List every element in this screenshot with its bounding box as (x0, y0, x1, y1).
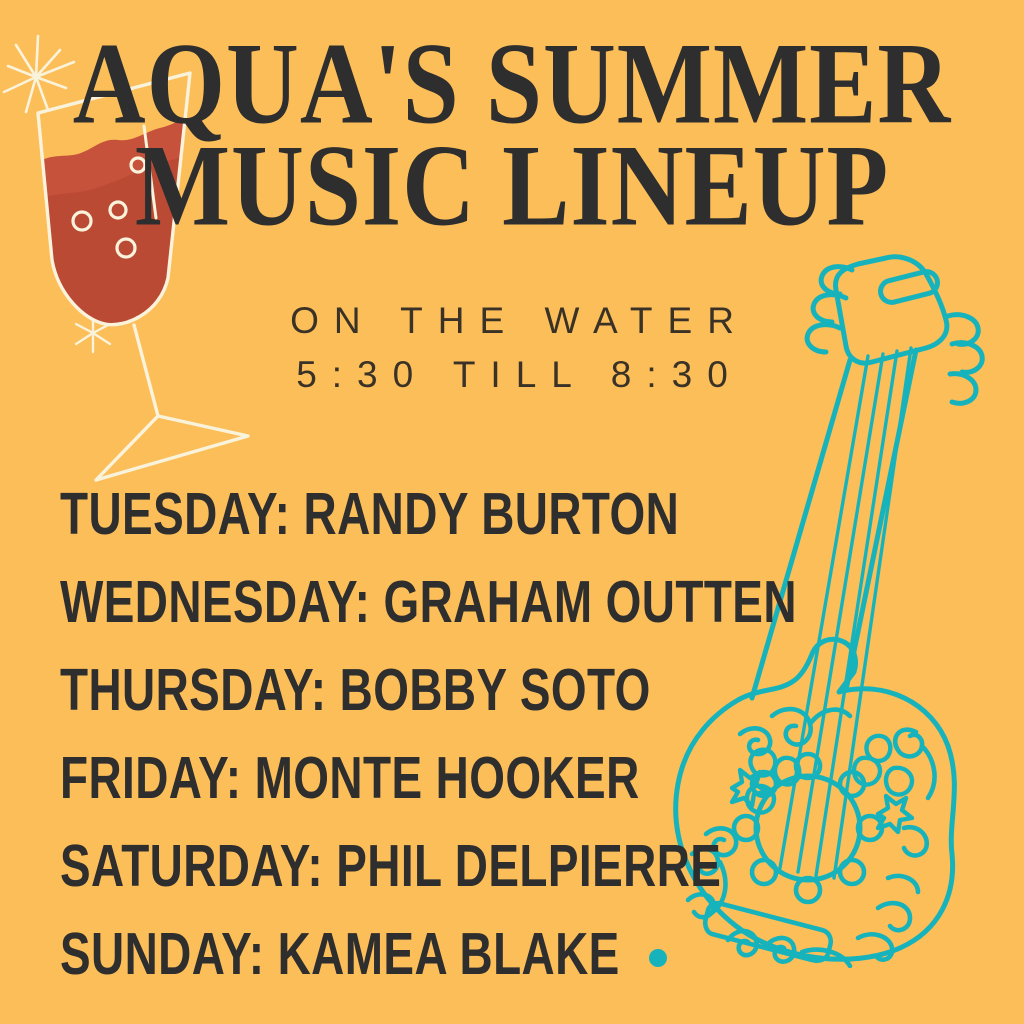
subtitle-location: ON THE WATER (0, 302, 1024, 339)
lineup-entry-thursday: THURSDAY: BOBBY SOTO (60, 660, 651, 719)
poster-text-layer: AQUA'S SUMMER MUSIC LINEUP ON THE WATER … (0, 0, 1024, 1024)
lineup-list: TUESDAY: RANDY BURTON WEDNESDAY: GRAHAM … (60, 470, 720, 998)
lineup-entry-sunday: SUNDAY: KAMEA BLAKE (60, 924, 620, 983)
list-item: THURSDAY: BOBBY SOTO (60, 646, 720, 734)
lineup-entry-friday: FRIDAY: MONTE HOOKER (60, 748, 640, 807)
lineup-entry-tuesday: TUESDAY: RANDY BURTON (60, 484, 679, 543)
list-item: FRIDAY: MONTE HOOKER (60, 734, 720, 822)
list-item: SUNDAY: KAMEA BLAKE (60, 910, 720, 998)
page-title-line-2: MUSIC LINEUP (15, 128, 1008, 244)
subtitle-time: 5:30 TILL 8:30 (0, 356, 1024, 393)
lineup-entry-saturday: SATURDAY: PHIL DELPIERRE (60, 836, 721, 895)
list-item: WEDNESDAY: GRAHAM OUTTEN (60, 558, 720, 646)
poster-canvas: AQUA'S SUMMER MUSIC LINEUP ON THE WATER … (0, 0, 1024, 1024)
lineup-entry-wednesday: WEDNESDAY: GRAHAM OUTTEN (60, 572, 797, 631)
list-item: TUESDAY: RANDY BURTON (60, 470, 720, 558)
list-item: SATURDAY: PHIL DELPIERRE (60, 822, 720, 910)
